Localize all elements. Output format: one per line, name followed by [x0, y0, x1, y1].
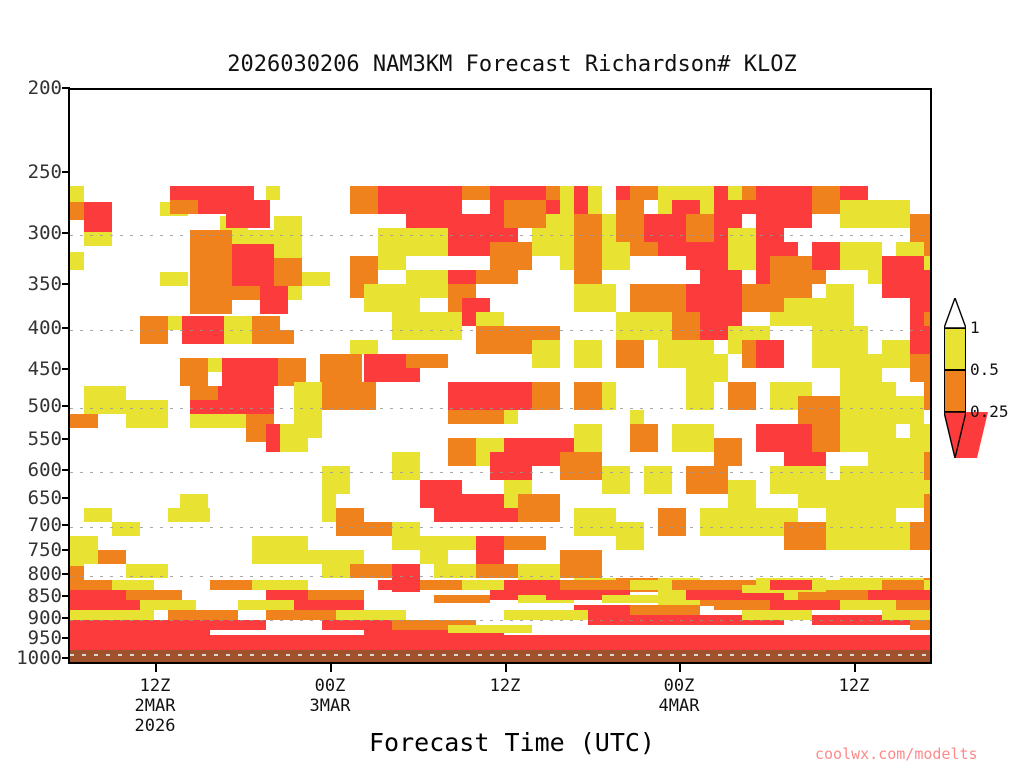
heatmap-cell: [574, 382, 602, 410]
heatmap-cell: [350, 200, 378, 214]
heatmap-cell: [924, 452, 932, 480]
heatmap-cell: [378, 228, 406, 270]
heatmap-cell: [784, 186, 812, 228]
heatmap-cell: [190, 230, 232, 258]
heatmap-cell: [308, 590, 364, 600]
y-axis-tick-label: 800: [6, 563, 62, 585]
heatmap-cell: [476, 564, 518, 578]
terrain-band: [70, 650, 930, 664]
heatmap-cell: [882, 256, 924, 298]
heatmap-cell: [644, 214, 686, 242]
heatmap-cell: [784, 522, 826, 550]
heatmap-plot-area: [68, 88, 932, 664]
heatmap-cell: [910, 354, 932, 382]
heatmap-cell: [504, 200, 546, 228]
heatmap-cell: [232, 286, 260, 300]
heatmap-cell: [448, 382, 476, 410]
y-axis-tick-label: 750: [6, 539, 62, 561]
y-axis-tick-mark: [62, 327, 70, 329]
y-axis-tick-label: 550: [6, 428, 62, 450]
colorbar-segment-yellow: [944, 328, 966, 370]
x-axis-tick-mark: [679, 664, 681, 672]
x-axis-tick-mark: [155, 664, 157, 672]
heatmap-cell: [868, 590, 932, 600]
x-axis-label-line: 2MAR: [110, 696, 200, 716]
heatmap-cell: [322, 466, 350, 494]
terrain-top-gridline: [70, 654, 930, 656]
heatmap-cell: [616, 228, 630, 242]
heatmap-cell: [392, 312, 434, 340]
heatmap-cell: [672, 424, 714, 452]
heatmap-cell: [924, 228, 932, 256]
heatmap-cell: [280, 424, 308, 452]
y-axis-tick-label: 900: [6, 607, 62, 629]
heatmap-cell: [70, 600, 140, 610]
heatmap-cell: [910, 620, 932, 630]
heatmap-cell: [406, 200, 462, 228]
y-axis: 2002503003504004505005506006507007508008…: [0, 88, 62, 664]
heatmap-cell: [574, 340, 602, 368]
y-axis-tick-mark: [62, 469, 70, 471]
heatmap-cell: [616, 200, 644, 228]
heatmap-cell: [574, 424, 602, 452]
heatmap-cell: [320, 354, 362, 382]
heatmap-cell: [574, 242, 602, 284]
heatmap-cell: [294, 600, 364, 610]
chart-page: 2026030206 NAM3KM Forecast Richardson# K…: [0, 0, 1024, 768]
heatmap-cell: [504, 610, 588, 620]
x-axis-tick-label: 12Z2MAR2026: [110, 676, 200, 736]
heatmap-cell: [924, 494, 932, 522]
heatmap-cell: [476, 270, 518, 284]
heatmap-cell: [630, 605, 700, 615]
y-axis-tick-mark: [62, 283, 70, 285]
heatmap-cell: [714, 438, 742, 466]
y-axis-tick-label: 1000: [6, 647, 62, 669]
heatmap-cell: [320, 382, 376, 410]
heatmap-cell: [70, 610, 154, 620]
heatmap-cell: [728, 382, 756, 410]
heatmap-cell: [266, 186, 280, 200]
heatmap-cell: [630, 424, 658, 452]
heatmap-cell: [126, 590, 182, 600]
y-axis-tick-label: 950: [6, 627, 62, 649]
heatmap-cell: [910, 326, 932, 354]
heatmap-cell: [742, 610, 812, 620]
y-axis-tick-label: 200: [6, 77, 62, 99]
x-axis-tick-mark: [330, 664, 332, 672]
y-axis-tick-mark: [62, 171, 70, 173]
y-axis-tick-label: 700: [6, 514, 62, 536]
heatmap-cell: [364, 284, 392, 312]
y-axis-tick-mark: [62, 232, 70, 234]
heatmap-cell: [190, 414, 246, 428]
heatmap-cell: [504, 536, 546, 550]
heatmap-cell: [112, 580, 154, 590]
heatmap-cell: [70, 202, 84, 220]
heatmap-cell: [160, 272, 188, 286]
y-axis-tick-label: 850: [6, 585, 62, 607]
heatmap-cell: [322, 494, 336, 522]
colorbar-tick-label: 0.25: [970, 402, 1009, 421]
heatmap-cell: [288, 286, 302, 300]
heatmap-cell: [434, 564, 476, 578]
heatmap-cell: [686, 466, 728, 494]
y-axis-tick-mark: [62, 657, 70, 659]
heatmap-cell: [126, 564, 168, 578]
colorbar-legend: 10.50.25: [940, 298, 1020, 478]
y-axis-tick-label: 650: [6, 487, 62, 509]
heatmap-cell: [274, 258, 302, 286]
heatmap-cell: [770, 312, 798, 326]
heatmap-cell: [84, 202, 112, 232]
colorbar-segment-orange: [944, 370, 966, 412]
heatmap-cell: [280, 550, 322, 564]
heatmap-cell: [630, 284, 658, 312]
page-title: 2026030206 NAM3KM Forecast Richardson# K…: [0, 52, 1024, 77]
heatmap-cell: [686, 354, 728, 382]
y-axis-tick-label: 600: [6, 459, 62, 481]
heatmap-cell: [840, 354, 882, 382]
heatmap-cell: [728, 186, 742, 200]
heatmap-cell: [868, 396, 924, 424]
heatmap-cell: [274, 244, 302, 258]
y-axis-tick-label: 500: [6, 395, 62, 417]
heatmap-cell: [882, 610, 932, 620]
x-axis-label-line: 4MAR: [634, 696, 724, 716]
heatmap-cell: [532, 340, 560, 368]
heatmap-cell: [350, 564, 392, 578]
y-axis-tick-mark: [62, 524, 70, 526]
heatmap-cell: [70, 590, 126, 600]
heatmap-cell: [190, 386, 218, 400]
heatmap-cell: [98, 550, 126, 564]
heatmap-cell: [232, 258, 274, 272]
y-axis-tick-label: 350: [6, 273, 62, 295]
heatmap-cell: [574, 214, 602, 242]
heatmap-cell: [882, 200, 910, 228]
heatmap-cell: [274, 216, 302, 244]
heatmap-cell: [434, 595, 490, 603]
heatmap-cell: [70, 252, 84, 270]
heatmap-cell: [728, 242, 756, 270]
heatmap-cell: [70, 580, 112, 590]
heatmap-cell: [686, 382, 714, 410]
y-axis-tick-mark: [62, 405, 70, 407]
heatmap-cell: [70, 552, 84, 566]
watermark: coolwx.com/modelts: [815, 745, 978, 763]
heatmap-cell: [812, 186, 840, 214]
heatmap-cell: [826, 284, 854, 312]
heatmap-cells: [70, 90, 930, 662]
heatmap-cell: [302, 272, 330, 286]
heatmap-cell: [476, 312, 504, 326]
heatmap-cell: [208, 358, 222, 372]
x-axis-tick-label: 12Z: [809, 676, 899, 696]
heatmap-cell: [294, 382, 322, 410]
heatmap-cell: [616, 340, 644, 368]
x-axis-tick-label: 00Z3MAR: [285, 676, 375, 716]
y-axis-tick-mark: [62, 617, 70, 619]
heatmap-cell: [756, 340, 784, 368]
x-axis-label-line: 00Z: [285, 676, 375, 696]
heatmap-cell: [70, 186, 84, 202]
heatmap-cell: [168, 316, 182, 330]
heatmap-cell: [392, 452, 420, 480]
heatmap-cell: [560, 580, 616, 590]
heatmap-cell: [434, 494, 476, 522]
heatmap-cell: [476, 382, 532, 410]
y-axis-tick-label: 250: [6, 161, 62, 183]
heatmap-cell: [448, 625, 532, 633]
heatmap-cell: [518, 494, 560, 522]
heatmap-cell: [658, 284, 686, 312]
heatmap-cell: [924, 382, 932, 410]
heatmap-cell: [190, 258, 232, 286]
heatmap-cell: [180, 358, 208, 386]
heatmap-cell: [924, 580, 932, 590]
heatmap-cell: [140, 316, 168, 344]
heatmap-cell: [392, 522, 420, 550]
heatmap-cell: [84, 508, 112, 522]
heatmap-cell: [658, 508, 686, 536]
heatmap-cell: [602, 466, 630, 494]
heatmap-cell: [574, 508, 616, 536]
heatmap-cell: [448, 410, 504, 424]
heatmap-cell: [336, 610, 406, 620]
heatmap-cell: [644, 466, 672, 494]
y-axis-tick-mark: [62, 637, 70, 639]
heatmap-cell: [490, 242, 532, 270]
heatmap-cell: [896, 600, 932, 610]
x-axis-tick-mark: [854, 664, 856, 672]
y-axis-tick-label: 450: [6, 358, 62, 380]
heatmap-cell: [182, 316, 224, 344]
heatmap-cell: [560, 550, 602, 578]
heatmap-cell: [140, 600, 196, 610]
heatmap-cell: [476, 536, 504, 564]
heatmap-cell: [924, 270, 932, 298]
y-axis-tick-mark: [62, 497, 70, 499]
y-axis-tick-label: 400: [6, 317, 62, 339]
heatmap-cell: [406, 354, 448, 368]
heatmap-cell: [406, 228, 448, 256]
heatmap-cell: [742, 284, 770, 312]
colorbar-tick-label: 1: [970, 318, 980, 337]
heatmap-cell: [126, 400, 168, 428]
heatmap-cell: [392, 284, 420, 312]
heatmap-cell: [812, 580, 868, 590]
heatmap-cell: [700, 508, 742, 536]
x-axis-label-line: 12Z: [809, 676, 899, 696]
heatmap-cell: [350, 340, 378, 354]
heatmap-cell: [84, 232, 112, 246]
heatmap-cell: [798, 396, 840, 424]
heatmap-cell: [602, 242, 630, 270]
heatmap-cell: [70, 620, 182, 630]
y-axis-tick-label: 300: [6, 222, 62, 244]
heatmap-cell: [630, 186, 658, 200]
heatmap-cell: [224, 330, 252, 344]
heatmap-cell: [574, 186, 588, 214]
colorbar-bottom-arrow-outline: [944, 412, 966, 458]
colorbar-top-arrow-outline: [944, 298, 966, 328]
heatmap-cell: [896, 452, 924, 494]
heatmap-cell: [910, 522, 932, 550]
y-axis-tick-mark: [62, 438, 70, 440]
heatmap-cell: [350, 522, 392, 536]
heatmap-cell: [84, 386, 126, 414]
heatmap-cell: [190, 286, 232, 314]
heatmap-cell: [672, 312, 700, 340]
heatmap-cell: [266, 330, 294, 344]
heatmap-cell: [812, 242, 840, 270]
heatmap-cell: [756, 214, 784, 242]
heatmap-cell: [532, 382, 560, 410]
colorbar-tick-label: 0.5: [970, 360, 999, 379]
heatmap-cell: [728, 480, 756, 508]
heatmap-cell: [112, 522, 140, 536]
heatmap-cell: [490, 452, 532, 480]
heatmap-cell: [602, 595, 658, 603]
y-axis-tick-mark: [62, 573, 70, 575]
x-axis-label-line: 12Z: [460, 676, 550, 696]
y-axis-tick-mark: [62, 368, 70, 370]
heatmap-cell: [168, 508, 210, 522]
heatmap-cell: [168, 610, 238, 620]
y-axis-tick-mark: [62, 87, 70, 89]
heatmap-cell: [910, 424, 932, 452]
heatmap-cell: [602, 382, 616, 410]
heatmap-cell: [420, 536, 448, 564]
x-axis-label-line: 3MAR: [285, 696, 375, 716]
y-axis-tick-mark: [62, 595, 70, 597]
heatmap-cell: [182, 620, 266, 630]
heatmap-cell: [260, 286, 288, 314]
x-axis-tick-label: 12Z: [460, 676, 550, 696]
heatmap-cell: [70, 414, 98, 428]
heatmap-cell: [252, 580, 308, 590]
x-axis-label-line: 00Z: [634, 676, 724, 696]
heatmap-cell: [246, 386, 274, 414]
heatmap-cell: [560, 452, 602, 480]
heatmap-cell: [602, 214, 616, 242]
heatmap-cell: [434, 312, 462, 340]
heatmap-cell: [616, 522, 644, 550]
y-axis-tick-mark: [62, 549, 70, 551]
heatmap-cell: [574, 284, 616, 312]
heatmap-cell: [630, 410, 644, 424]
x-axis-tick-mark: [505, 664, 507, 672]
heatmap-cell: [70, 640, 932, 650]
x-axis-label-line: 12Z: [110, 676, 200, 696]
heatmap-cell: [226, 200, 270, 228]
x-axis-tick-label: 00Z4MAR: [634, 676, 724, 716]
